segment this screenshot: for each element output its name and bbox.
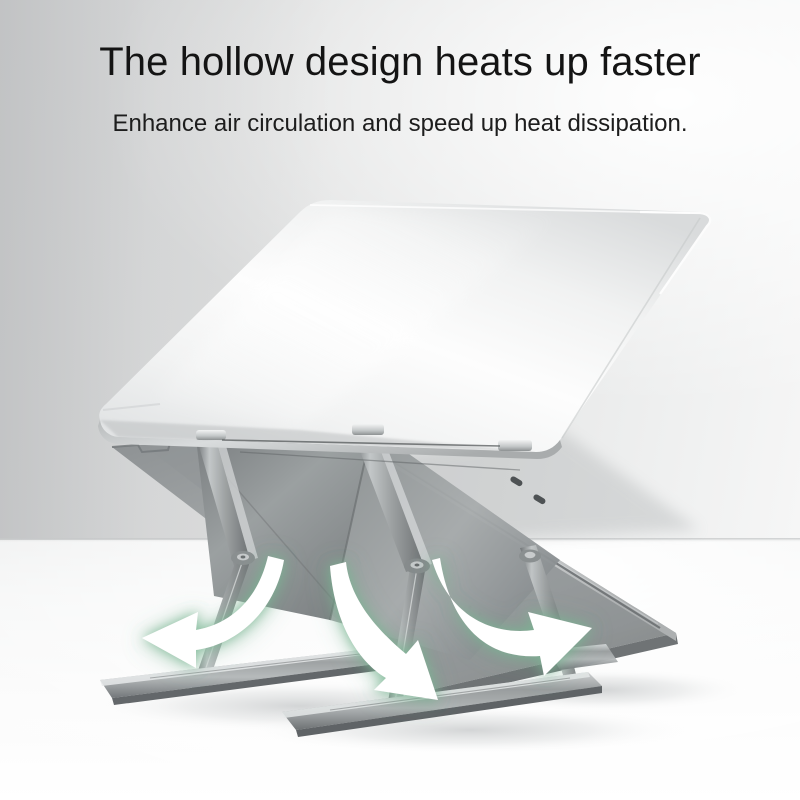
product-stage: [0, 0, 800, 800]
stand-pivot-joint-left: [231, 551, 255, 565]
stand-pivot-joint-middle: [404, 559, 430, 574]
product-banner: The hollow design heats up faster Enhanc…: [0, 0, 800, 800]
laptop-lid: [98, 200, 711, 459]
